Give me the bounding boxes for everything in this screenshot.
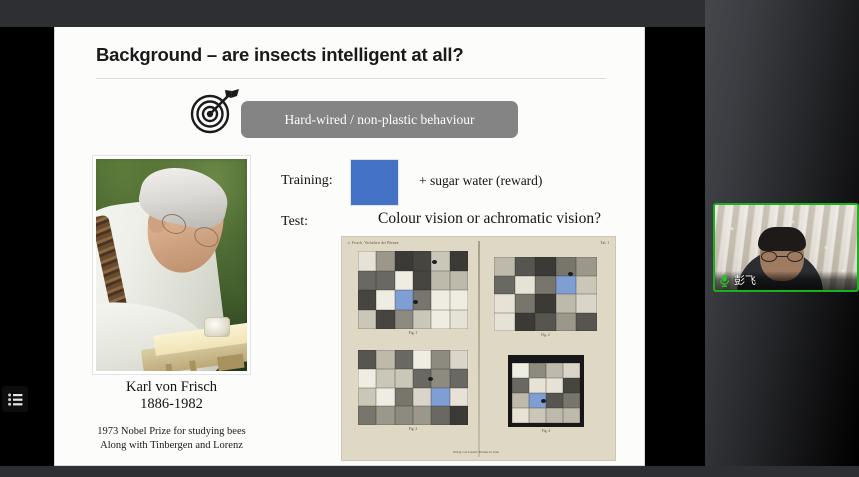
plate-cell (395, 271, 413, 291)
portrait-caption-years: 1886-1982 (55, 396, 288, 413)
plate-cell (494, 257, 515, 276)
target-dartboard-icon (187, 87, 241, 136)
plate-cell (494, 294, 515, 313)
plate-cell (563, 408, 580, 423)
plate-cell (395, 310, 413, 330)
plate-cell (395, 350, 413, 369)
plate-cell (450, 310, 468, 330)
meeting-screen-share-window: Background – are insects intelligent at … (0, 0, 859, 477)
plate-cell (450, 406, 468, 425)
plate-cell (413, 251, 431, 271)
plate-cell (358, 388, 376, 407)
plate-cell (546, 393, 563, 408)
plate-cell (556, 257, 577, 276)
plate-header-right: Taf. 1 (601, 241, 609, 245)
plate-cell (512, 408, 529, 423)
plate-cell (546, 378, 563, 393)
plate-cell (546, 363, 563, 378)
plate-cell (358, 350, 376, 369)
training-colour-swatch (350, 159, 399, 206)
plate-cell (576, 276, 597, 295)
plate-figure-4-label: Fig. 4 (508, 429, 584, 433)
plate-cell (376, 406, 394, 425)
plate-figure-3 (358, 350, 468, 425)
plate-cell (450, 388, 468, 407)
portrait-caption: Karl von Frisch 1886-1982 (55, 379, 288, 413)
plate-cell (535, 294, 556, 313)
title-divider (96, 78, 606, 79)
plate-cell (358, 251, 376, 271)
plate-cell (535, 313, 556, 332)
portrait-photo (92, 155, 251, 375)
participant-video-tile[interactable]: 彭飞 (713, 203, 859, 292)
plate-cell (535, 257, 556, 276)
plate-cell (546, 408, 563, 423)
plate-cell (413, 406, 431, 425)
plate-cell (563, 363, 580, 378)
plate-cell (576, 294, 597, 313)
plate-cell (358, 369, 376, 388)
plate-footer: Verlag von Gustav Fischer in Jena (453, 450, 499, 454)
plate-cell (450, 251, 468, 271)
plate-cell (431, 290, 449, 310)
portrait-caption-name: Karl von Frisch (55, 379, 288, 396)
presentation-slide: Background – are insects intelligent at … (54, 27, 645, 466)
plate-figure-2-label: Fig. 2 (494, 333, 597, 337)
plate-figure-1 (358, 251, 468, 329)
plate-cell (376, 388, 394, 407)
plate-cell (358, 290, 376, 310)
plate-cell (512, 378, 529, 393)
plate-cell (395, 251, 413, 271)
training-reward-text: + sugar water (reward) (419, 173, 542, 189)
plate-cell (450, 290, 468, 310)
participants-panel: 彭飞 (705, 0, 859, 466)
plate-cell (395, 406, 413, 425)
portrait-note: 1973 Nobel Prize for studying bees Along… (55, 425, 288, 452)
plate-figure-1-label: Fig. 1 (358, 331, 468, 335)
plate-cell (529, 378, 546, 393)
plate-cell (450, 271, 468, 291)
plate-figure-3-label: Fig. 3 (358, 427, 468, 431)
test-label: Test: (281, 214, 308, 230)
plate-cell (358, 406, 376, 425)
plate-cell (431, 406, 449, 425)
microphone-icon[interactable] (719, 274, 730, 287)
meeting-top-bar (0, 0, 705, 27)
plate-cell (376, 369, 394, 388)
test-question-text: Colour vision or achromatic vision? (378, 210, 601, 228)
plate-cell (512, 363, 529, 378)
plate-cell (556, 276, 577, 295)
plate-cell (450, 369, 468, 388)
list-view-icon[interactable] (2, 386, 28, 412)
plate-figure-4 (508, 355, 584, 427)
plate-cell (431, 388, 449, 407)
plate-cell (413, 310, 431, 330)
meeting-bottom-bar (0, 466, 859, 477)
plate-cell (413, 271, 431, 291)
plate-figure-2 (494, 257, 597, 331)
plate-cell (512, 393, 529, 408)
plate-cell (535, 276, 556, 295)
plate-cell (529, 408, 546, 423)
plate-cell (376, 251, 394, 271)
plate-cell (450, 350, 468, 369)
portrait-note-line1: 1973 Nobel Prize for studying bees (55, 425, 288, 439)
plate-cell (413, 388, 431, 407)
plate-cell (529, 363, 546, 378)
status-badge: Hard-wired / non-plastic behaviour (241, 101, 518, 138)
plate-cell (431, 350, 449, 369)
portrait-note-line2: Along with Tinbergen and Lorenz (55, 439, 288, 453)
plate-cell (395, 369, 413, 388)
plate-cell (563, 378, 580, 393)
plate-cell (376, 271, 394, 291)
plate-cell (515, 276, 536, 295)
plate-cell (376, 350, 394, 369)
plate-cell (494, 276, 515, 295)
plate-cell (431, 369, 449, 388)
plate-cell (494, 313, 515, 332)
plate-cell (515, 313, 536, 332)
participant-name: 彭飞 (734, 274, 756, 287)
plate-cell (563, 393, 580, 408)
plate-cell (576, 313, 597, 332)
training-label: Training: (281, 173, 333, 189)
plate-fold-line (478, 241, 480, 457)
plate-cell (515, 257, 536, 276)
plate-cell (556, 313, 577, 332)
status-badge-label: Hard-wired / non-plastic behaviour (284, 112, 474, 128)
plate-cell (413, 350, 431, 369)
scanned-plate-figure: v. Frisch, Verhalten der Bienen Taf. 1 F… (341, 236, 616, 461)
page-title: Background – are insects intelligent at … (96, 44, 463, 66)
plate-cell (431, 310, 449, 330)
plate-cell (358, 271, 376, 291)
plate-header-left: v. Frisch, Verhalten der Bienen (348, 241, 399, 245)
plate-cell (358, 310, 376, 330)
plate-cell (515, 294, 536, 313)
plate-cell (376, 290, 394, 310)
plate-cell (556, 294, 577, 313)
plate-cell (431, 271, 449, 291)
plate-cell (395, 388, 413, 407)
participant-name-bar: 彭飞 (715, 271, 857, 290)
plate-cell (376, 310, 394, 330)
plate-cell (395, 290, 413, 310)
plate-cell (576, 257, 597, 276)
